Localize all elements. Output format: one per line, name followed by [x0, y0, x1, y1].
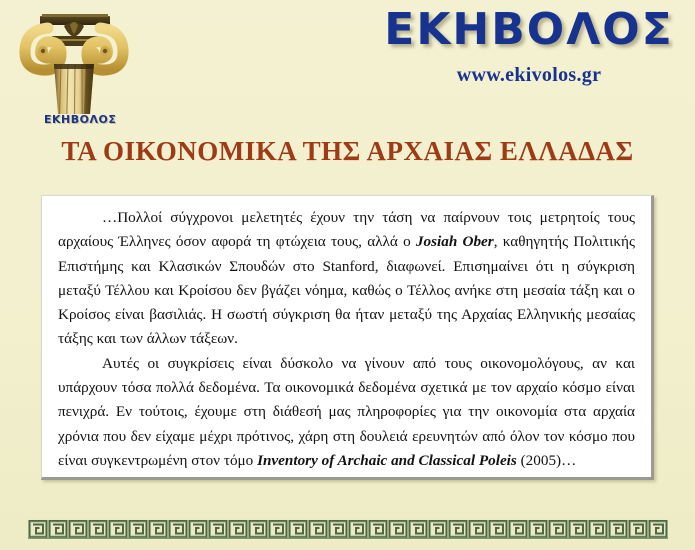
site-header: ΕΚΗΒΟΛΟΣ ΕΚΗΒΟΛΟΣ www.ekivolos.gr	[0, 0, 695, 130]
paragraph-2-text-b: (2005)…	[517, 452, 576, 469]
brand-logo-text: ΕΚΗΒΟΛΟΣ	[379, 8, 679, 52]
paragraph-1-text-b: , καθηγητής Πολιτικής Επιστήμης και Κλασ…	[58, 233, 635, 347]
page-title: ΤΑ ΟΙΚΟΝΟΜΙΚΑ ΤΗΣ ΑΡΧΑΙΑΣ ΕΛΛΑΔΑΣ	[0, 136, 695, 167]
greek-meander-border	[0, 518, 695, 540]
ionic-column-icon	[18, 6, 130, 114]
article-content-box: …Πολλοί σύγχρονοι μελετητές έχουν την τά…	[41, 195, 654, 480]
site-url[interactable]: www.ekivolos.gr	[379, 64, 679, 87]
paragraph-2-emphasis: Inventory of Archaic and Classical Polei…	[257, 452, 517, 469]
paragraph-1-emphasis: Josiah Ober	[416, 233, 494, 250]
logo-wordmark: ΕΚΗΒΟΛΟΣ	[44, 113, 116, 126]
paragraph-2: Αυτές οι συγκρίσεις είναι δύσκολο να γίν…	[58, 352, 635, 473]
site-brand: ΕΚΗΒΟΛΟΣ www.ekivolos.gr	[379, 8, 679, 87]
page-root: ΕΚΗΒΟΛΟΣ ΕΚΗΒΟΛΟΣ www.ekivolos.gr ΤΑ ΟΙΚ…	[0, 0, 695, 550]
paragraph-1: …Πολλοί σύγχρονοι μελετητές έχουν την τά…	[58, 206, 635, 352]
